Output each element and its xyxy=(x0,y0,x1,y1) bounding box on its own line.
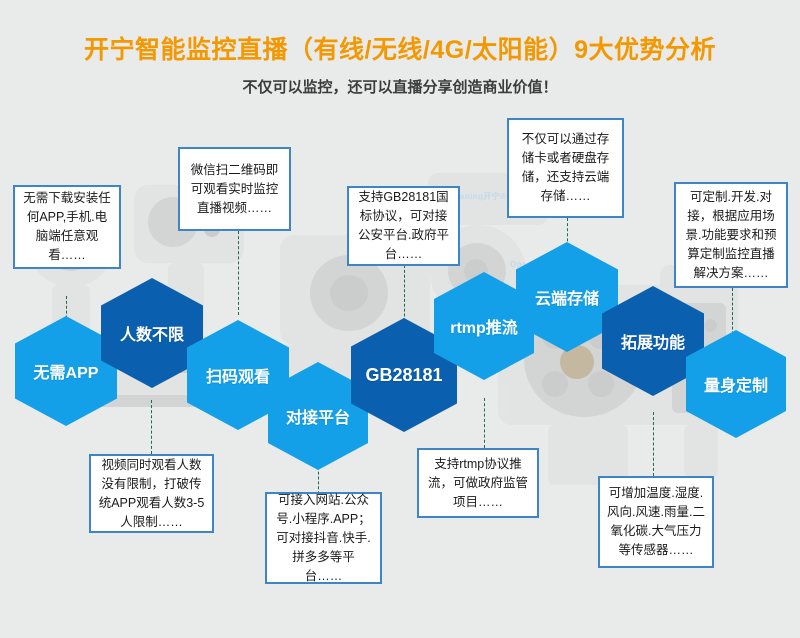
hexagon-label-gb28181: GB28181 xyxy=(365,365,442,386)
infographic-canvas: Opening开宁® Opening开宁® Openi xyxy=(0,0,800,638)
hexagon-label-tailor-made: 量身定制 xyxy=(704,372,768,396)
hexagon-label-extended-functions: 拓展功能 xyxy=(621,329,685,353)
callout-text-no-app: 无需下载安装任何APP,手机.电脑端任意观看…… xyxy=(22,189,112,265)
hexagon-label-no-app: 无需APP xyxy=(34,359,99,383)
page-title: 开宁智能监控直播（有线/无线/4G/太阳能）9大优势分析 xyxy=(0,30,800,66)
page-subtitle: 不仅可以监控，还可以直播分享创造商业价值！ xyxy=(0,76,800,97)
callout-text-tailor-made: 可定制.开发.对接，根据应用场景.功能要求和预算定制监控直播解决方案…… xyxy=(683,188,779,283)
callout-text-extended-functions: 可增加温度.湿度.风向.风速.雨量.二氧化碳.大气压力等传感器…… xyxy=(607,484,705,560)
callout-text-scan-to-watch: 微信扫二维码即可观看实时监控直播视频…… xyxy=(187,161,282,218)
hexagon-label-scan-to-watch: 扫码观看 xyxy=(206,363,270,387)
connector-extended-functions xyxy=(653,412,654,476)
callout-text-unlimited-viewers: 视频同时观看人数没有限制，打破传统APP观看人数3-5人限制…… xyxy=(98,456,205,532)
callout-platform: 可接入网站.公众号.小程序.APP；可对接抖音.快手.拼多多等平台…… xyxy=(265,492,382,584)
hexagon-label-platform: 对接平台 xyxy=(286,404,350,428)
callout-no-app: 无需下载安装任何APP,手机.电脑端任意观看…… xyxy=(13,185,121,269)
callout-scan-to-watch: 微信扫二维码即可观看实时监控直播视频…… xyxy=(178,147,291,231)
connector-unlimited-viewers xyxy=(151,400,152,454)
connector-scan-to-watch xyxy=(238,231,239,315)
callout-text-gb28181: 支持GB28181国标协议，可对接公安平台.政府平台…… xyxy=(356,188,451,264)
callout-text-rtmp: 支持rtmp协议推流，可做政府监管项目…… xyxy=(426,455,530,512)
hexagon-label-cloud-storage: 云端存储 xyxy=(535,285,599,309)
hexagon-label-rtmp: rtmp推流 xyxy=(450,314,518,338)
callout-unlimited-viewers: 视频同时观看人数没有限制，打破传统APP观看人数3-5人限制…… xyxy=(89,454,214,533)
callout-extended-functions: 可增加温度.湿度.风向.风速.雨量.二氧化碳.大气压力等传感器…… xyxy=(598,476,714,568)
callout-text-cloud-storage: 不仅可以通过存储卡或者硬盘存储，还支持云端存储…… xyxy=(516,130,615,206)
connector-rtmp xyxy=(484,398,485,448)
callout-cloud-storage: 不仅可以通过存储卡或者硬盘存储，还支持云端存储…… xyxy=(507,118,624,218)
callout-rtmp: 支持rtmp协议推流，可做政府监管项目…… xyxy=(417,448,539,518)
callout-gb28181: 支持GB28181国标协议，可对接公安平台.政府平台…… xyxy=(347,186,460,266)
callout-text-platform: 可接入网站.公众号.小程序.APP；可对接抖音.快手.拼多多等平台…… xyxy=(274,491,373,586)
callout-tailor-made: 可定制.开发.对接，根据应用场景.功能要求和预算定制监控直播解决方案…… xyxy=(674,182,788,288)
hexagon-label-unlimited-viewers: 人数不限 xyxy=(120,321,184,345)
